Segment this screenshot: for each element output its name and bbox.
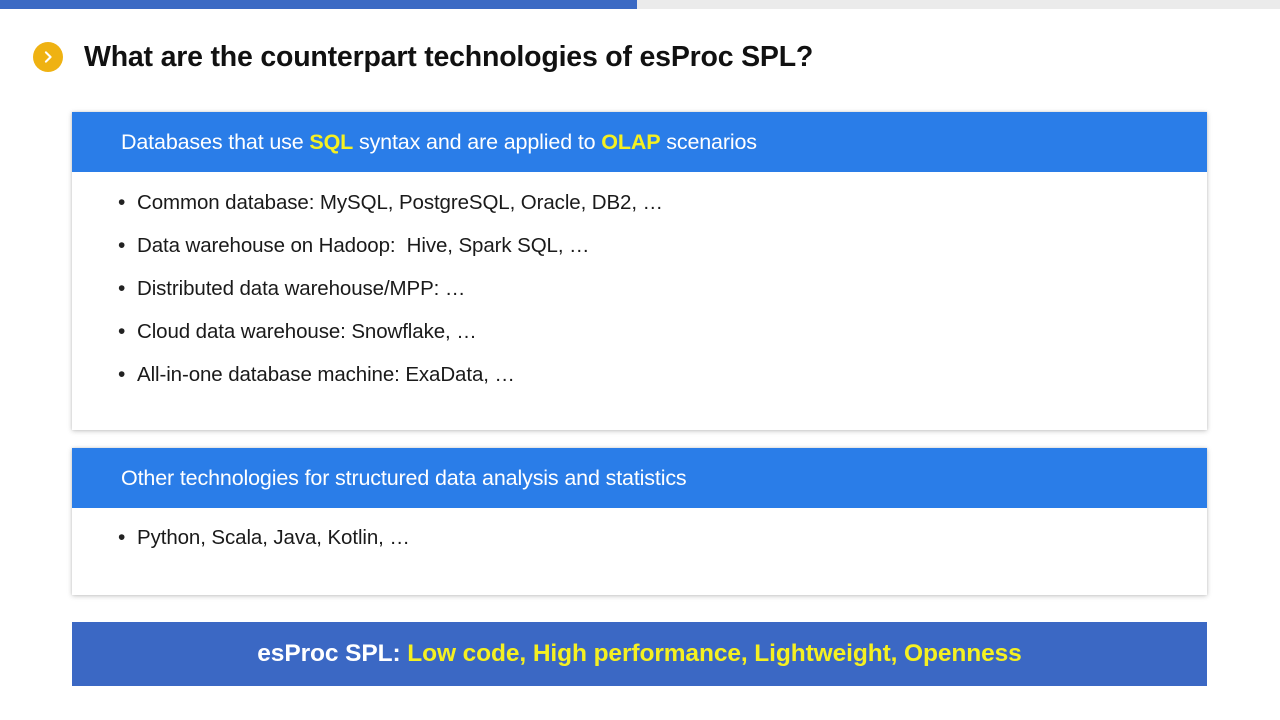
slide-progress-fill [0,0,637,9]
bullet-marker-icon: • [112,235,137,256]
list-item: •All-in-one database machine: ExaData, … [72,363,1207,406]
list-item-label: Common database: MySQL, PostgreSQL, Orac… [137,191,663,215]
bottom-banner-lead: esProc SPL: [257,640,407,667]
card-other-header-text: Other technologies for structured data a… [121,466,687,491]
list-item: •Distributed data warehouse/MPP: … [72,277,1207,320]
list-item: •Cloud data warehouse: Snowflake, … [72,320,1207,363]
list-item: •Python, Scala, Java, Kotlin, … [72,526,1207,569]
bullet-marker-icon: • [112,192,137,213]
bullet-marker-icon: • [112,321,137,342]
list-item: •Data warehouse on Hadoop: Hive, Spark S… [72,234,1207,277]
page-title: What are the counterpart technologies of… [84,41,813,74]
card-sql-header: Databases that use SQL syntax and are ap… [72,112,1207,172]
card-other-header: Other technologies for structured data a… [72,448,1207,508]
card-other-body: •Python, Scala, Java, Kotlin, … [72,508,1207,595]
list-item-label: All-in-one database machine: ExaData, … [137,363,515,387]
list-item-label: Data warehouse on Hadoop: Hive, Spark SQ… [137,234,589,258]
bullet-marker-icon: • [112,364,137,385]
bottom-banner: esProc SPL: Low code, High performance, … [72,622,1207,686]
bullet-marker-icon: • [112,527,137,548]
chevron-right-circle-icon [33,42,63,72]
header-segment: Databases that use [121,130,309,154]
slide-title-row: What are the counterpart technologies of… [33,34,813,80]
list-item-label: Cloud data warehouse: Snowflake, … [137,320,477,344]
header-segment: scenarios [660,130,757,154]
card-other-technologies: Other technologies for structured data a… [72,448,1207,595]
card-sql-body: •Common database: MySQL, PostgreSQL, Ora… [72,172,1207,430]
header-segment: Other technologies for structured data a… [121,466,687,490]
bullet-marker-icon: • [112,278,137,299]
list-item: •Common database: MySQL, PostgreSQL, Ora… [72,191,1207,234]
card-sql-header-text: Databases that use SQL syntax and are ap… [121,130,757,155]
header-highlight: OLAP [601,130,660,154]
list-item-label: Python, Scala, Java, Kotlin, … [137,526,410,550]
header-segment: syntax and are applied to [353,130,601,154]
bottom-banner-text: esProc SPL: Low code, High performance, … [257,640,1021,668]
card-sql-databases: Databases that use SQL syntax and are ap… [72,112,1207,430]
bottom-banner-accent: Low code, High performance, Lightweight,… [407,640,1021,667]
list-item-label: Distributed data warehouse/MPP: … [137,277,465,301]
header-highlight: SQL [309,130,353,154]
slide-progress-track [0,0,1280,9]
